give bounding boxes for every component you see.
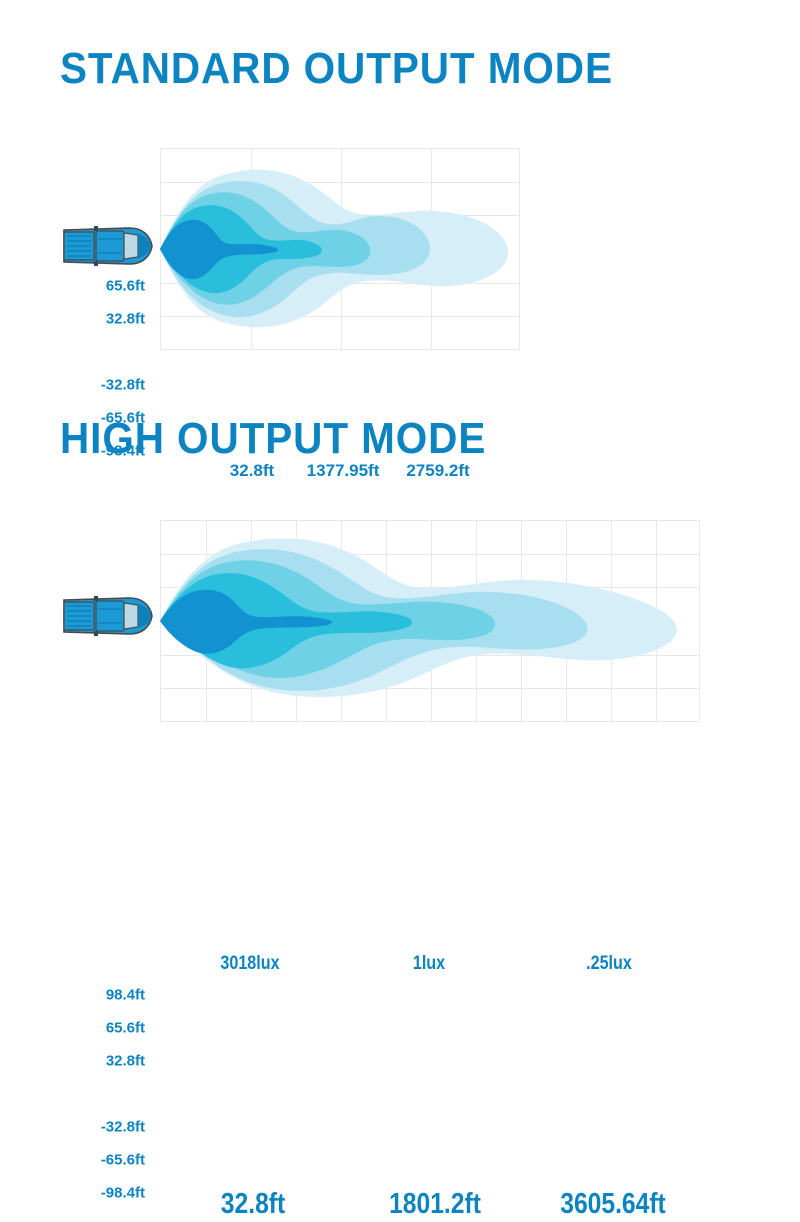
standard-beam-pattern	[160, 148, 520, 350]
y-label-neg-65-6: -65.6ft	[101, 1152, 145, 1169]
distance-label-far: 3605.64ft	[560, 1188, 666, 1221]
y-label-65-6: 65.6ft	[106, 1020, 145, 1037]
high-lux-labels: 3018lux 1lux .25lux	[0, 953, 800, 979]
lux-label-peak: 3018lux	[220, 953, 279, 975]
truck-top-view	[64, 596, 152, 636]
y-label-65-6: 65.6ft	[106, 278, 145, 295]
y-label-neg-32-8: -32.8ft	[101, 1119, 145, 1136]
distance-label-near: 32.8ft	[221, 1188, 285, 1221]
y-label-32-8: 32.8ft	[106, 311, 145, 328]
y-label-neg-32-8: -32.8ft	[101, 377, 145, 394]
y-label-98-4: 98.4ft	[106, 987, 145, 1004]
high-beam-pattern	[160, 520, 700, 722]
truck-icon	[58, 222, 158, 275]
high-mode-title: HIGH OUTPUT MODE	[60, 414, 486, 464]
standard-plot-area	[160, 148, 520, 350]
lux-label-quarter: .25lux	[586, 953, 632, 975]
truck-top-view	[64, 226, 152, 266]
y-label-32-8: 32.8ft	[106, 1053, 145, 1070]
standard-mode-title: STANDARD OUTPUT MODE	[60, 44, 613, 94]
beam-pattern-page: STANDARD OUTPUT MODE 1768lux 1lux .25lux…	[0, 0, 800, 800]
truck-icon	[58, 592, 158, 645]
high-plot-area	[160, 520, 700, 722]
high-distance-labels: 32.8ft 1801.2ft 3605.64ft	[0, 1188, 800, 1222]
distance-label-mid: 1801.2ft	[389, 1188, 481, 1221]
lux-label-one: 1lux	[413, 953, 445, 975]
